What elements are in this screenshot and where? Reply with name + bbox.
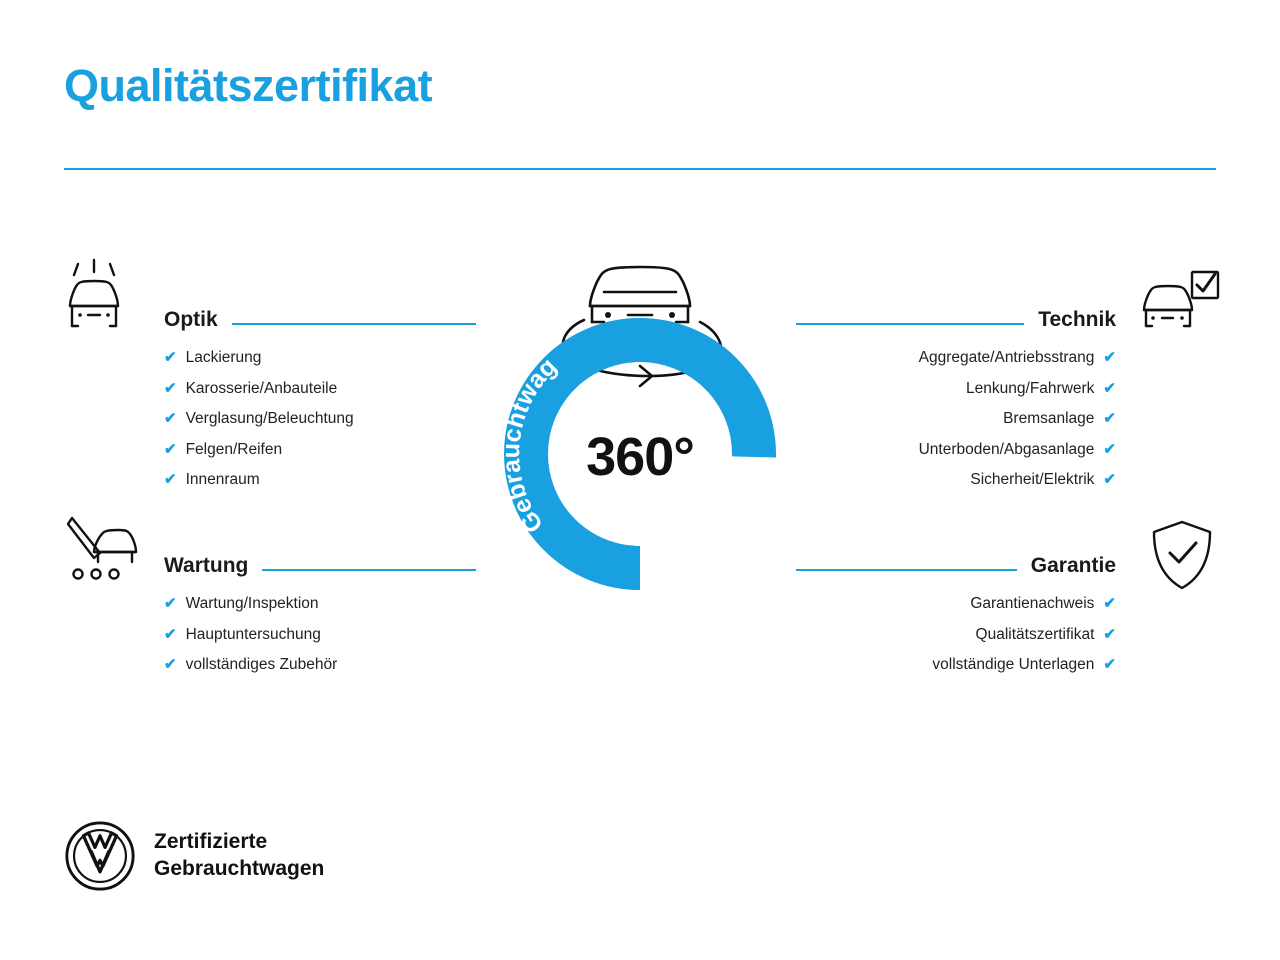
certificate-page: Qualitätszertifikat Optik ✔ Lackierung bbox=[0, 0, 1280, 960]
section-wartung: Wartung ✔ Wartung/Inspektion ✔ Hauptunte… bbox=[164, 536, 476, 689]
car-lift-icon bbox=[64, 512, 146, 595]
list-item: ✔ Hauptuntersuchung bbox=[164, 627, 476, 643]
check-icon: ✔ bbox=[1103, 442, 1116, 457]
list-item-label: Garantienachweis bbox=[970, 596, 1094, 612]
section-garantie-items: Garantienachweis ✔ Qualitätszertifikat ✔… bbox=[796, 596, 1116, 673]
check-icon: ✔ bbox=[164, 627, 177, 642]
list-item: ✔ Innenraum bbox=[164, 472, 476, 488]
list-item-label: Lackierung bbox=[186, 350, 262, 366]
list-item-label: vollständiges Zubehör bbox=[186, 657, 338, 673]
check-icon: ✔ bbox=[1103, 627, 1116, 642]
car-shine-icon bbox=[64, 258, 144, 349]
footer-line-2: Gebrauchtwagen bbox=[154, 856, 324, 883]
check-icon: ✔ bbox=[164, 411, 177, 426]
check-icon: ✔ bbox=[1103, 657, 1116, 672]
gebrauchtwagen-check-ring: Gebrauchtwagen-Check bbox=[462, 248, 818, 618]
list-item-label: Aggregate/Antriebsstrang bbox=[919, 350, 1095, 366]
check-icon: ✔ bbox=[1103, 596, 1116, 611]
section-wartung-rule bbox=[262, 569, 476, 571]
section-technik-header: Technik bbox=[796, 290, 1116, 330]
check-icon: ✔ bbox=[1103, 350, 1116, 365]
check-icon: ✔ bbox=[1103, 411, 1116, 426]
section-wartung-items: ✔ Wartung/Inspektion ✔ Hauptuntersuchung… bbox=[164, 596, 476, 673]
list-item: Sicherheit/Elektrik ✔ bbox=[796, 472, 1116, 488]
list-item: vollständige Unterlagen ✔ bbox=[796, 657, 1116, 673]
page-title: Qualitätszertifikat bbox=[64, 60, 432, 112]
section-garantie-title: Garantie bbox=[1031, 555, 1116, 576]
section-optik: Optik ✔ Lackierung ✔ Karosserie/Anbautei… bbox=[164, 290, 476, 504]
section-wartung-title: Wartung bbox=[164, 555, 248, 576]
vw-logo-icon bbox=[64, 820, 136, 892]
list-item: ✔ vollständiges Zubehör bbox=[164, 657, 476, 673]
list-item: Bremsanlage ✔ bbox=[796, 411, 1116, 427]
section-optik-items: ✔ Lackierung ✔ Karosserie/Anbauteile ✔ V… bbox=[164, 350, 476, 488]
list-item-label: Qualitätszertifikat bbox=[976, 627, 1095, 643]
check-icon: ✔ bbox=[164, 657, 177, 672]
list-item-label: Bremsanlage bbox=[1003, 411, 1094, 427]
list-item: Garantienachweis ✔ bbox=[796, 596, 1116, 612]
section-optik-title: Optik bbox=[164, 309, 218, 330]
section-garantie-header: Garantie bbox=[796, 536, 1116, 576]
section-technik: Technik Aggregate/Antriebsstrang ✔ Lenku… bbox=[796, 290, 1116, 504]
check-icon: ✔ bbox=[1103, 381, 1116, 396]
list-item: ✔ Lackierung bbox=[164, 350, 476, 366]
list-item: ✔ Verglasung/Beleuchtung bbox=[164, 411, 476, 427]
list-item: Qualitätszertifikat ✔ bbox=[796, 627, 1116, 643]
section-garantie: Garantie Garantienachweis ✔ Qualitätszer… bbox=[796, 536, 1116, 689]
section-optik-header: Optik bbox=[164, 290, 476, 330]
footer: Zertifizierte Gebrauchtwagen bbox=[64, 820, 324, 892]
check-icon: ✔ bbox=[164, 350, 177, 365]
list-item-label: Unterboden/Abgasanlage bbox=[919, 442, 1095, 458]
check-icon: ✔ bbox=[164, 381, 177, 396]
center-badge: Gebrauchtwagen-Check 360° bbox=[462, 248, 818, 618]
shield-check-icon bbox=[1148, 518, 1216, 599]
list-item-label: Hauptuntersuchung bbox=[186, 627, 321, 643]
list-item: Aggregate/Antriebsstrang ✔ bbox=[796, 350, 1116, 366]
list-item-label: Karosserie/Anbauteile bbox=[186, 381, 338, 397]
check-icon: ✔ bbox=[164, 596, 177, 611]
list-item: ✔ Felgen/Reifen bbox=[164, 442, 476, 458]
check-icon: ✔ bbox=[164, 472, 177, 487]
section-garantie-rule bbox=[796, 569, 1017, 571]
car-front-icon bbox=[590, 267, 690, 322]
list-item-label: Lenkung/Fahrwerk bbox=[966, 381, 1094, 397]
list-item-label: Innenraum bbox=[186, 472, 260, 488]
footer-line-1: Zertifizierte bbox=[154, 829, 324, 856]
title-divider bbox=[64, 168, 1216, 170]
footer-text: Zertifizierte Gebrauchtwagen bbox=[154, 829, 324, 883]
list-item: ✔ Wartung/Inspektion bbox=[164, 596, 476, 612]
list-item: ✔ Karosserie/Anbauteile bbox=[164, 381, 476, 397]
car-checkbox-icon bbox=[1140, 268, 1222, 341]
section-technik-rule bbox=[796, 323, 1024, 325]
list-item: Lenkung/Fahrwerk ✔ bbox=[796, 381, 1116, 397]
list-item: Unterboden/Abgasanlage ✔ bbox=[796, 442, 1116, 458]
section-wartung-header: Wartung bbox=[164, 536, 476, 576]
list-item-label: Verglasung/Beleuchtung bbox=[186, 411, 354, 427]
check-icon: ✔ bbox=[164, 442, 177, 457]
list-item-label: Wartung/Inspektion bbox=[186, 596, 319, 612]
check-icon: ✔ bbox=[1103, 472, 1116, 487]
section-technik-title: Technik bbox=[1038, 309, 1116, 330]
list-item-label: Felgen/Reifen bbox=[186, 442, 283, 458]
section-technik-items: Aggregate/Antriebsstrang ✔ Lenkung/Fahrw… bbox=[796, 350, 1116, 488]
list-item-label: vollständige Unterlagen bbox=[932, 657, 1094, 673]
list-item-label: Sicherheit/Elektrik bbox=[970, 472, 1094, 488]
section-optik-rule bbox=[232, 323, 476, 325]
